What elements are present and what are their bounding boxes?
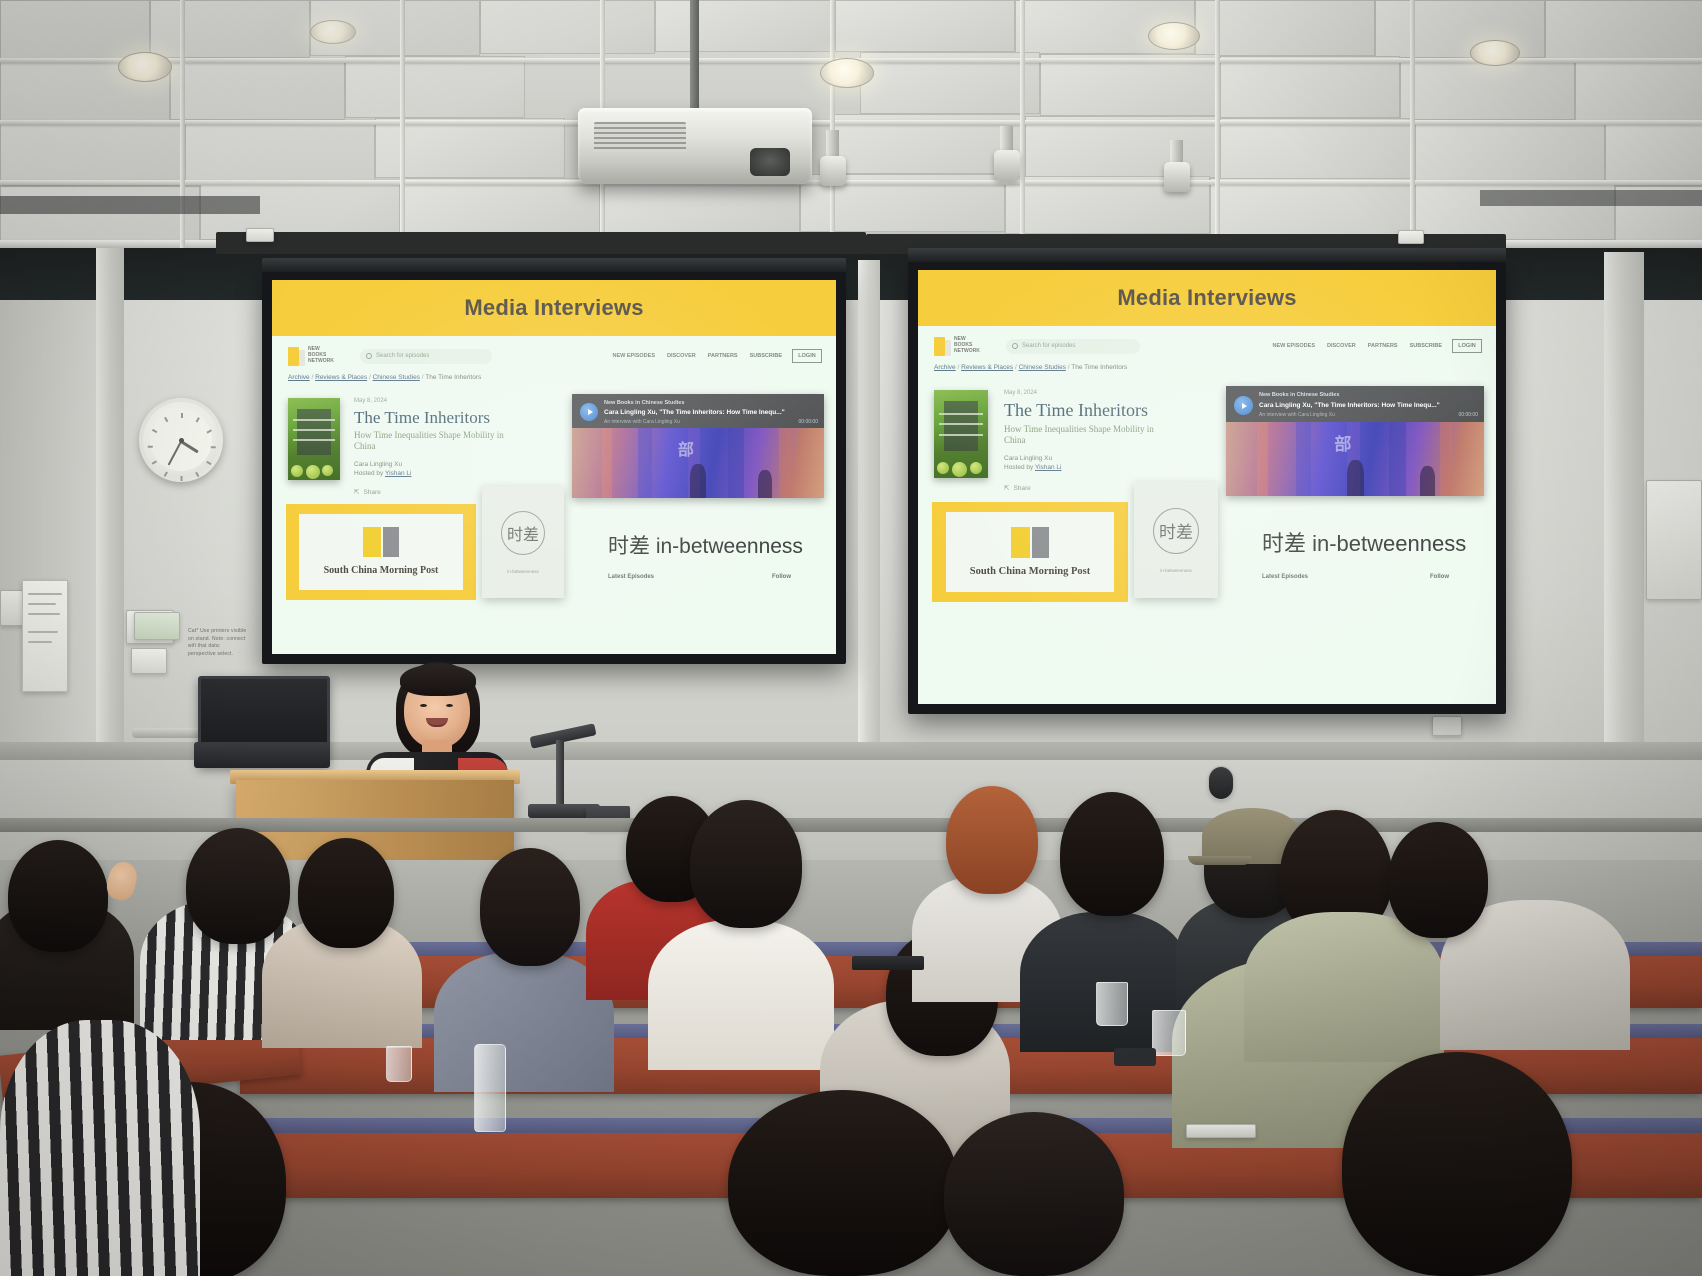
- ceiling-speaker: [820, 156, 846, 186]
- podcast-cover-art: 部: [572, 428, 824, 498]
- shicha-logo-icon: 时差: [501, 511, 545, 555]
- presenter-eye-left: [420, 704, 427, 707]
- slide-header: Media Interviews: [272, 280, 836, 336]
- nav-new-episodes[interactable]: NEW EPISODES: [613, 353, 655, 359]
- article-author: Cara Lingling Xu: [354, 461, 402, 468]
- breadcrumb-reviews[interactable]: Reviews & Places: [961, 364, 1013, 371]
- audience-head: [1060, 792, 1164, 916]
- article-byline: Cara Lingling Xu Hosted by Yishan Li: [354, 460, 411, 479]
- shicha-logo-tag: in-betweenness: [1160, 568, 1192, 573]
- nav-subscribe[interactable]: SUBSCRIBE: [750, 353, 782, 359]
- breadcrumb-chinese-studies[interactable]: Chinese Studies: [1019, 364, 1066, 371]
- podcast-duration: 00:00:00: [799, 419, 818, 425]
- login-button[interactable]: LOGIN: [1452, 339, 1482, 353]
- article-host[interactable]: Yishan Li: [1035, 464, 1062, 471]
- book-cover-image: [934, 390, 988, 478]
- article-subtitle: How Time Inequalities Shape Mobility in …: [354, 430, 504, 453]
- water-bottle[interactable]: [474, 1044, 506, 1132]
- nav-discover[interactable]: DISCOVER: [667, 353, 696, 359]
- new-books-network-logo[interactable]: NEWBOOKSNETWORK: [286, 345, 342, 367]
- share-label: Share: [1013, 485, 1030, 492]
- article-author: Cara Lingling Xu: [1004, 455, 1052, 462]
- follow-label[interactable]: Follow: [1430, 574, 1449, 580]
- search-placeholder: Search for episodes: [376, 353, 429, 359]
- document-camera-stem: [556, 740, 564, 810]
- shicha-wordmark: 时差 in-betweenness: [608, 530, 803, 560]
- wall-switch[interactable]: [0, 590, 24, 626]
- scmp-name: South China Morning Post: [970, 566, 1090, 577]
- audience-head-foreground: [1342, 1052, 1572, 1276]
- login-button[interactable]: LOGIN: [792, 349, 822, 363]
- breadcrumb: Archive / Reviews & Places / Chinese Stu…: [934, 364, 1127, 371]
- shicha-podcast-card: 时差 in-betweenness: [482, 486, 564, 598]
- screen-surface-left: Media Interviews NEWBOOKSNETWORK Search …: [272, 280, 836, 654]
- podium-instruction-text: Cat* Use printers visible on stand. Note…: [188, 628, 248, 658]
- wall-poster: [22, 580, 68, 692]
- nav-new-episodes[interactable]: NEW EPISODES: [1273, 343, 1315, 349]
- podcast-subtitle: An interview with Cara Lingling Xu: [604, 419, 680, 425]
- nav-partners[interactable]: PARTNERS: [1368, 343, 1398, 349]
- projector-lens: [750, 148, 790, 176]
- host-prefix: Hosted by: [1004, 464, 1033, 471]
- article-host[interactable]: Yishan Li: [385, 470, 412, 477]
- nav-subscribe[interactable]: SUBSCRIBE: [1410, 343, 1442, 349]
- slide-title: Media Interviews: [1117, 285, 1296, 311]
- share-button[interactable]: ⇱ Share: [1004, 484, 1031, 492]
- share-button[interactable]: ⇱ Share: [354, 488, 381, 496]
- search-input[interactable]: Search for episodes: [360, 349, 492, 364]
- article-title: The Time Inheritors: [354, 408, 490, 428]
- screen-roller-left: [262, 258, 846, 272]
- article-date: May 8, 2024: [1004, 390, 1037, 396]
- podcast-player-card[interactable]: New Books in Chinese Studies Cara Lingli…: [1226, 386, 1484, 496]
- podcast-kicker: New Books in Chinese Studies: [1259, 392, 1339, 398]
- shicha-logo-icon: 时差: [1153, 508, 1199, 554]
- scmp-logo-card: South China Morning Post: [932, 502, 1128, 602]
- breadcrumb-archive[interactable]: Archive: [288, 374, 310, 381]
- search-placeholder: Search for episodes: [1022, 343, 1075, 349]
- ceiling-light: [820, 58, 874, 88]
- monitor-arm: [132, 728, 202, 738]
- embedded-website: NEWBOOKSNETWORK Search for episodes NEW …: [272, 336, 836, 654]
- clock-face: [150, 409, 212, 471]
- nav-links: NEW EPISODES DISCOVER PARTNERS SUBSCRIBE…: [613, 349, 822, 363]
- wall-column-mid: [858, 260, 880, 820]
- book-cover-image: [288, 398, 340, 480]
- wall-clock: [139, 398, 223, 482]
- wall-panel-far-right: [1646, 480, 1702, 600]
- embedded-website: NEWBOOKSNETWORK Search for episodes NEW …: [918, 326, 1496, 704]
- drinking-cup[interactable]: [1096, 982, 1128, 1026]
- wall-plate-right[interactable]: [1432, 716, 1462, 736]
- closed-laptop[interactable]: [852, 956, 924, 970]
- breadcrumb-reviews[interactable]: Reviews & Places: [315, 374, 367, 381]
- audience-head: [8, 840, 108, 952]
- scmp-mark-icon: [363, 527, 399, 557]
- projection-screen-left: Media Interviews NEWBOOKSNETWORK Search …: [262, 272, 846, 664]
- audience-shoulders: [648, 920, 834, 1070]
- logo-text: NEWBOOKSNETWORK: [308, 347, 334, 365]
- lecture-hall-photo: Cat* Use printers visible on stand. Note…: [0, 0, 1702, 1276]
- podium-keyboard[interactable]: [194, 742, 330, 768]
- shicha-logo-tag: in-betweenness: [507, 569, 539, 574]
- ceiling-speaker: [1164, 162, 1190, 192]
- search-icon: [366, 353, 372, 359]
- nav-partners[interactable]: PARTNERS: [708, 353, 738, 359]
- play-icon[interactable]: [580, 403, 598, 421]
- podcast-title: Cara Lingling Xu, "The Time Inheritors: …: [1259, 402, 1475, 409]
- projector-vent: [594, 122, 686, 152]
- audience-head: [1388, 822, 1488, 938]
- search-icon: [1012, 343, 1018, 349]
- audience-head-foreground: [944, 1112, 1124, 1276]
- housing-bracket-right: [1398, 230, 1424, 244]
- audience-shoulders: [1244, 912, 1444, 1062]
- follow-label[interactable]: Follow: [772, 574, 791, 580]
- audience-head: [690, 800, 802, 928]
- new-books-network-logo[interactable]: NEWBOOKSNETWORK: [932, 335, 988, 357]
- speaker-box-right: [1208, 766, 1234, 800]
- scmp-mark-icon: [1011, 527, 1049, 558]
- slide-header: Media Interviews: [918, 270, 1496, 326]
- nav-links: NEW EPISODES DISCOVER PARTNERS SUBSCRIBE…: [1273, 339, 1482, 353]
- audience-shoulders-foreground: [0, 1020, 200, 1276]
- podcast-player-card[interactable]: New Books in Chinese Studies Cara Lingli…: [572, 394, 824, 498]
- scmp-inner: South China Morning Post: [299, 514, 462, 591]
- article-title: The Time Inheritors: [1004, 400, 1148, 421]
- notebook-on-desk[interactable]: [1186, 1124, 1256, 1138]
- nav-discover[interactable]: DISCOVER: [1327, 343, 1356, 349]
- housing-bracket-left: [246, 228, 274, 242]
- ceiling-projector: [578, 108, 812, 184]
- mobile-phone[interactable]: [1114, 1048, 1156, 1066]
- audience-head-red-hair: [946, 786, 1038, 894]
- fire-notice-sign: [134, 612, 180, 640]
- projector-mount: [690, 0, 699, 112]
- shicha-podcast-card: 时差 in-betweenness: [1134, 482, 1218, 598]
- audience-head: [298, 838, 394, 948]
- audience-head-foreground: [728, 1090, 958, 1276]
- latest-episodes-label[interactable]: Latest Episodes: [608, 574, 654, 580]
- ceiling-light: [118, 52, 172, 82]
- presenter-eye-right: [446, 704, 453, 707]
- shicha-logo-chars: 时差: [1159, 518, 1193, 543]
- podcast-title: Cara Lingling Xu, "The Time Inheritors: …: [604, 409, 814, 416]
- breadcrumb-current: The Time Inheritors: [1071, 364, 1127, 371]
- screen-surface-right: Media Interviews NEWBOOKSNETWORK Search …: [918, 270, 1496, 704]
- logo-text: NEWBOOKSNETWORK: [954, 337, 980, 355]
- share-icon: ⇱: [354, 488, 359, 496]
- article-byline: Cara Lingling Xu Hosted by Yishan Li: [1004, 454, 1061, 473]
- ceiling-light: [1470, 40, 1520, 66]
- host-prefix: Hosted by: [354, 470, 383, 477]
- podcast-cover-art: 部: [1226, 422, 1484, 496]
- article-subtitle: How Time Inequalities Shape Mobility in …: [1004, 424, 1154, 447]
- screen-roller-right: [908, 248, 1506, 262]
- ceiling: [0, 0, 1702, 262]
- wall-outlet-panel[interactable]: [131, 648, 167, 674]
- article-date: May 8, 2024: [354, 398, 387, 404]
- drinking-cup[interactable]: [1152, 1010, 1186, 1056]
- slide-title: Media Interviews: [464, 295, 643, 321]
- play-icon[interactable]: [1234, 396, 1253, 415]
- share-label: Share: [363, 489, 380, 496]
- audience-head: [480, 848, 580, 966]
- drinking-cup[interactable]: [386, 1046, 412, 1082]
- search-input[interactable]: Search for episodes: [1006, 339, 1140, 354]
- clock-center-pin: [179, 438, 184, 443]
- breadcrumb-archive[interactable]: Archive: [934, 364, 956, 371]
- site-nav-bar: NEWBOOKSNETWORK Search for episodes NEW …: [272, 336, 836, 367]
- slide-left: Media Interviews NEWBOOKSNETWORK Search …: [272, 280, 836, 654]
- ceiling-speaker: [994, 150, 1020, 180]
- breadcrumb-current: The Time Inheritors: [425, 374, 481, 381]
- breadcrumb: Archive / Reviews & Places / Chinese Stu…: [288, 374, 481, 381]
- breadcrumb-chinese-studies[interactable]: Chinese Studies: [373, 374, 420, 381]
- clock-minute-hand: [167, 441, 182, 466]
- site-nav-bar: NEWBOOKSNETWORK Search for episodes NEW …: [918, 326, 1496, 357]
- cap-brim: [1188, 856, 1252, 865]
- audience-head: [186, 828, 290, 944]
- podcast-duration: 00:00:00: [1459, 412, 1478, 418]
- shicha-wordmark: 时差 in-betweenness: [1262, 526, 1466, 558]
- presenter-fringe: [400, 664, 476, 696]
- scmp-logo-card: South China Morning Post: [286, 504, 476, 600]
- ceiling-light: [310, 20, 356, 44]
- shicha-logo-chars: 时差: [507, 521, 539, 545]
- scmp-inner: South China Morning Post: [946, 512, 1115, 592]
- latest-episodes-label[interactable]: Latest Episodes: [1262, 574, 1308, 580]
- screen-housing-left: [216, 232, 866, 254]
- ceiling-light: [1148, 22, 1200, 50]
- slide-right: Media Interviews NEWBOOKSNETWORK Search …: [918, 270, 1496, 704]
- share-icon: ⇱: [1004, 484, 1009, 492]
- scmp-name: South China Morning Post: [324, 565, 439, 576]
- projection-screen-right: Media Interviews NEWBOOKSNETWORK Search …: [908, 262, 1506, 714]
- podcast-kicker: New Books in Chinese Studies: [604, 400, 684, 406]
- podcast-subtitle: An interview with Cara Lingling Xu: [1259, 412, 1335, 418]
